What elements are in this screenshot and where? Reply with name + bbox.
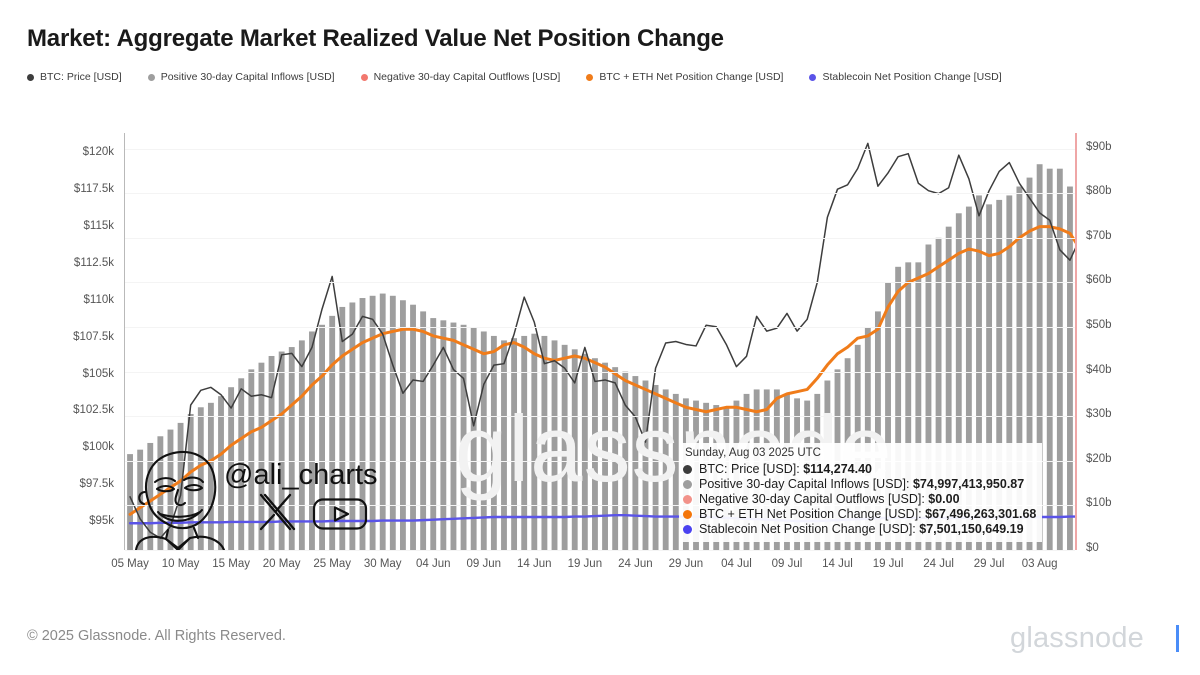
y-axis-right-tick-label: $70b xyxy=(1086,230,1112,242)
y-axis-right-spine xyxy=(1075,133,1077,550)
tooltip-row-text: BTC + ETH Net Position Change [USD]: $67… xyxy=(699,507,1036,521)
tooltip-row-text: Stablecoin Net Position Change [USD]: $7… xyxy=(699,522,1024,536)
tooltip-row: Stablecoin Net Position Change [USD]: $7… xyxy=(683,522,1036,536)
chart-tooltip: Sunday, Aug 03 2025 UTC BTC: Price [USD]… xyxy=(679,443,1042,542)
grid-line xyxy=(125,149,1075,150)
x-axis-tick-label: 20 May xyxy=(263,558,301,570)
y-axis-left-tick-label: $120k xyxy=(0,146,114,158)
bar-positive-inflow xyxy=(582,354,588,550)
bar-positive-inflow xyxy=(390,296,396,550)
y-axis-left-tick-label: $100k xyxy=(0,441,114,453)
bar-positive-inflow xyxy=(643,381,649,550)
legend-item-positive-inflows[interactable]: Positive 30-day Capital Inflows [USD] xyxy=(148,72,335,83)
tooltip-row: Positive 30-day Capital Inflows [USD]: $… xyxy=(683,477,1036,491)
grid-line xyxy=(125,550,1075,551)
bar-positive-inflow xyxy=(339,307,345,550)
y-axis-left-tick-label: $102.5k xyxy=(0,404,114,416)
y-axis-left-tick-label: $115k xyxy=(0,220,114,232)
bar-positive-inflow xyxy=(410,305,416,550)
x-axis-tick-label: 09 Jun xyxy=(467,558,502,570)
bar-positive-inflow xyxy=(1057,169,1063,550)
tooltip-rows: BTC: Price [USD]: $114,274.40Positive 30… xyxy=(683,462,1036,536)
legend-item-stablecoin-npc[interactable]: Stablecoin Net Position Change [USD] xyxy=(809,72,1001,83)
page-title: Market: Aggregate Market Realized Value … xyxy=(27,25,724,53)
legend-label-btc-eth-npc: BTC + ETH Net Position Change [USD] xyxy=(599,72,783,83)
legend-label-stablecoin-npc: Stablecoin Net Position Change [USD] xyxy=(822,72,1001,83)
grid-line xyxy=(125,238,1075,239)
bar-positive-inflow xyxy=(279,352,285,550)
grid-line xyxy=(125,193,1075,194)
x-axis-tick-label: 15 May xyxy=(212,558,250,570)
legend-item-btc-price[interactable]: BTC: Price [USD] xyxy=(27,72,122,83)
tooltip-row: BTC: Price [USD]: $114,274.40 xyxy=(683,462,1036,476)
x-axis-tick-label: 24 Jul xyxy=(923,558,954,570)
tooltip-row: BTC + ETH Net Position Change [USD]: $67… xyxy=(683,507,1036,521)
tooltip-row-text: Positive 30-day Capital Inflows [USD]: $… xyxy=(699,477,1024,491)
tooltip-row-text: BTC: Price [USD]: $114,274.40 xyxy=(699,462,872,476)
y-axis-right-tick-label: $20b xyxy=(1086,453,1112,465)
bar-positive-inflow xyxy=(349,302,355,550)
bar-positive-inflow xyxy=(329,316,335,550)
x-axis-tick-label: 14 Jun xyxy=(517,558,552,570)
y-axis-right-tick-label: $60b xyxy=(1086,274,1112,286)
bar-positive-inflow xyxy=(198,407,204,550)
bar-positive-inflow xyxy=(602,363,608,550)
y-axis-left-tick-label: $112.5k xyxy=(0,257,114,269)
x-axis-tick-label: 19 Jul xyxy=(873,558,904,570)
bar-positive-inflow xyxy=(400,300,406,550)
y-axis-left-tick-label: $95k xyxy=(0,515,114,527)
grid-line xyxy=(125,372,1075,373)
x-axis-tick-label: 09 Jul xyxy=(772,558,803,570)
legend-color-dot-btc-eth-npc xyxy=(586,74,593,81)
grid-line xyxy=(125,327,1075,328)
author-handle: @ali_charts xyxy=(224,459,378,492)
x-axis-tick-label: 24 Jun xyxy=(618,558,653,570)
y-axis-left-tick-label: $105k xyxy=(0,368,114,380)
chart-screenshot: Market: Aggregate Market Realized Value … xyxy=(0,0,1200,675)
bar-positive-inflow xyxy=(663,389,669,550)
x-axis-tick-label: 14 Jul xyxy=(822,558,853,570)
bar-positive-inflow xyxy=(420,311,426,550)
bar-positive-inflow xyxy=(208,403,214,550)
bar-positive-inflow xyxy=(653,385,659,550)
y-axis-right-tick-label: $90b xyxy=(1086,141,1112,153)
y-axis-left-tick-label: $107.5k xyxy=(0,331,114,343)
y-axis-right-tick-label: $0 xyxy=(1086,542,1099,554)
bar-positive-inflow xyxy=(562,345,568,550)
bar-positive-inflow xyxy=(178,423,184,550)
tooltip-color-dot xyxy=(683,495,692,504)
x-axis-tick-label: 30 May xyxy=(364,558,402,570)
legend-item-negative-outflows[interactable]: Negative 30-day Capital Outflows [USD] xyxy=(361,72,561,83)
y-axis-right-tick-label: $40b xyxy=(1086,364,1112,376)
x-axis-tick-label: 05 May xyxy=(111,558,149,570)
x-axis-tick-label: 04 Jun xyxy=(416,558,451,570)
x-axis-tick-label: 29 Jun xyxy=(669,558,704,570)
tooltip-color-dot xyxy=(683,480,692,489)
bar-positive-inflow xyxy=(592,358,598,550)
legend-label-positive-inflows: Positive 30-day Capital Inflows [USD] xyxy=(161,72,335,83)
legend-color-dot-stablecoin-npc xyxy=(809,74,816,81)
tooltip-color-dot xyxy=(683,510,692,519)
y-axis-right-tick-label: $80b xyxy=(1086,185,1112,197)
bar-positive-inflow xyxy=(289,347,295,550)
bar-positive-inflow xyxy=(673,394,679,550)
bar-positive-inflow xyxy=(319,325,325,550)
bar-positive-inflow xyxy=(511,338,517,550)
legend-color-dot-btc-price xyxy=(27,74,34,81)
bar-positive-inflow xyxy=(451,323,457,550)
y-axis-right-tick-label: $10b xyxy=(1086,497,1112,509)
y-axis-right-tick-label: $30b xyxy=(1086,408,1112,420)
y-axis-right-tick-label: $50b xyxy=(1086,319,1112,331)
footer-divider xyxy=(0,597,1200,598)
legend-label-negative-outflows: Negative 30-day Capital Outflows [USD] xyxy=(374,72,561,83)
glassnode-logo: glassnode xyxy=(1010,622,1144,655)
copyright-text: © 2025 Glassnode. All Rights Reserved. xyxy=(27,628,286,644)
x-axis-tick-label: 25 May xyxy=(313,558,351,570)
grid-line xyxy=(125,282,1075,283)
bar-positive-inflow xyxy=(632,376,638,550)
bar-positive-inflow xyxy=(612,367,618,550)
tooltip-color-dot xyxy=(683,465,692,474)
tooltip-color-dot xyxy=(683,525,692,534)
chart-legend: BTC: Price [USD] Positive 30-day Capital… xyxy=(27,72,1002,83)
legend-item-btc-eth-npc[interactable]: BTC + ETH Net Position Change [USD] xyxy=(586,72,783,83)
legend-color-dot-positive-inflows xyxy=(148,74,155,81)
legend-label-btc-price: BTC: Price [USD] xyxy=(40,72,122,83)
bar-positive-inflow xyxy=(471,327,477,550)
bar-positive-inflow xyxy=(137,450,143,550)
grid-line xyxy=(125,416,1075,417)
y-axis-left-tick-label: $117.5k xyxy=(0,183,114,195)
glassnode-logo-accent-bar xyxy=(1176,625,1179,652)
bar-positive-inflow xyxy=(461,325,467,550)
tooltip-date: Sunday, Aug 03 2025 UTC xyxy=(683,447,1036,459)
legend-color-dot-negative-outflows xyxy=(361,74,368,81)
bar-positive-inflow xyxy=(309,331,315,550)
x-axis-tick-label: 19 Jun xyxy=(568,558,603,570)
bar-positive-inflow xyxy=(188,414,194,550)
tooltip-row-text: Negative 30-day Capital Outflows [USD]: … xyxy=(699,492,960,506)
x-axis-tick-label: 03 Aug xyxy=(1022,558,1058,570)
y-axis-left-tick-label: $110k xyxy=(0,294,114,306)
x-axis-tick-label: 10 May xyxy=(162,558,200,570)
tooltip-row: Negative 30-day Capital Outflows [USD]: … xyxy=(683,492,1036,506)
bar-positive-inflow xyxy=(430,318,436,550)
y-axis-left-tick-label: $97.5k xyxy=(0,478,114,490)
x-axis-tick-label: 29 Jul xyxy=(974,558,1005,570)
x-axis-tick-label: 04 Jul xyxy=(721,558,752,570)
bar-positive-inflow xyxy=(440,320,446,550)
bar-positive-inflow xyxy=(370,296,376,550)
bar-positive-inflow xyxy=(360,298,366,550)
